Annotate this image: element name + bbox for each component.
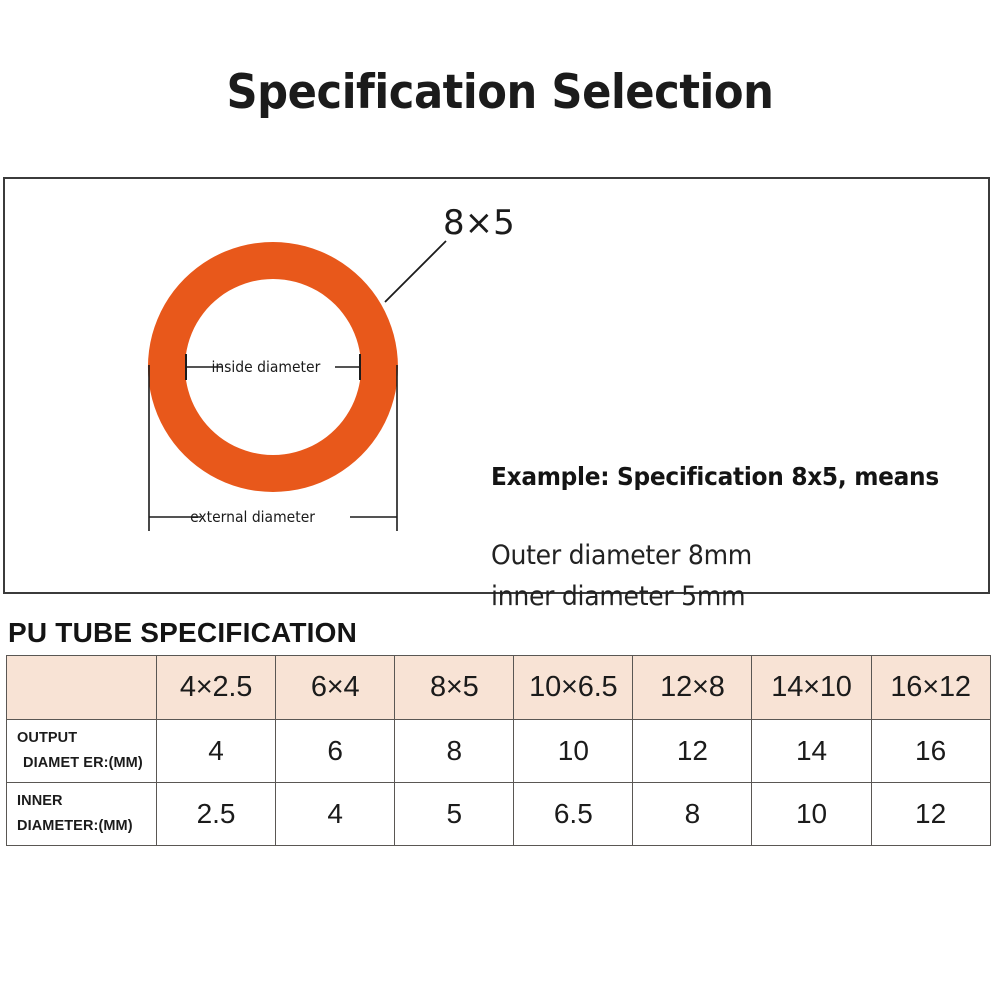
callout-leader-line <box>385 241 446 302</box>
table-cell: 10 <box>514 720 633 783</box>
table-cell: 8 <box>395 720 514 783</box>
example-text-block: Example: Specification 8x5, means Outer … <box>491 462 971 614</box>
table-row: INNER DIAMETER:(MM) 2.5 4 5 6.5 8 10 12 <box>7 783 991 846</box>
table-cell: 12 <box>871 783 990 846</box>
inside-diameter-label: inside diameter <box>211 360 320 377</box>
table-header-cell: 14×10 <box>752 656 871 720</box>
table-heading: PU TUBE SPECIFICATION <box>8 617 357 649</box>
table-header-row: 4×2.5 6×4 8×5 10×6.5 12×8 14×10 16×12 <box>7 656 991 720</box>
table-header-cell: 10×6.5 <box>514 656 633 720</box>
table-cell: 2.5 <box>157 783 276 846</box>
table-header-cell: 8×5 <box>395 656 514 720</box>
pu-tube-specification-table: 4×2.5 6×4 8×5 10×6.5 12×8 14×10 16×12 OU… <box>6 655 991 846</box>
row-label-line2: DIAMET ER:(MM) <box>17 751 150 776</box>
row-label-line2: DIAMETER:(MM) <box>17 814 150 839</box>
table-header-cell: 12×8 <box>633 656 752 720</box>
inside-diameter-dimension: inside diameter <box>186 354 360 380</box>
table-cell: 6 <box>276 720 395 783</box>
table-header-cell: 16×12 <box>871 656 990 720</box>
table-row: OUTPUT DIAMET ER:(MM) 4 6 8 10 12 14 16 <box>7 720 991 783</box>
external-diameter-label: external diameter <box>190 510 315 527</box>
table-header-cell: 6×4 <box>276 656 395 720</box>
table-cell: 12 <box>633 720 752 783</box>
row-label-line1: INNER <box>17 789 150 814</box>
example-outer-diameter-line: Outer diameter 8mm <box>491 540 937 573</box>
table-cell: 10 <box>752 783 871 846</box>
table-cell: 6.5 <box>514 783 633 846</box>
example-inner-diameter-line: inner diameter 5mm <box>491 581 937 614</box>
row-label-line1: OUTPUT <box>17 726 150 751</box>
illustration-panel: 8×5 inside diameter external diameter Ex… <box>3 177 990 594</box>
row-label-inner-diameter: INNER DIAMETER:(MM) <box>7 783 157 846</box>
table-cell: 8 <box>633 783 752 846</box>
example-heading: Example: Specification 8x5, means <box>491 462 937 492</box>
row-label-output-diameter: OUTPUT DIAMET ER:(MM) <box>7 720 157 783</box>
table-cell: 16 <box>871 720 990 783</box>
table-cell: 5 <box>395 783 514 846</box>
callout-label: 8×5 <box>443 203 515 243</box>
table-cell: 4 <box>157 720 276 783</box>
table-cell: 14 <box>752 720 871 783</box>
table-cell: 4 <box>276 783 395 846</box>
table-corner-cell <box>7 656 157 720</box>
table-header-cell: 4×2.5 <box>157 656 276 720</box>
page-title: Specification Selection <box>40 66 960 120</box>
